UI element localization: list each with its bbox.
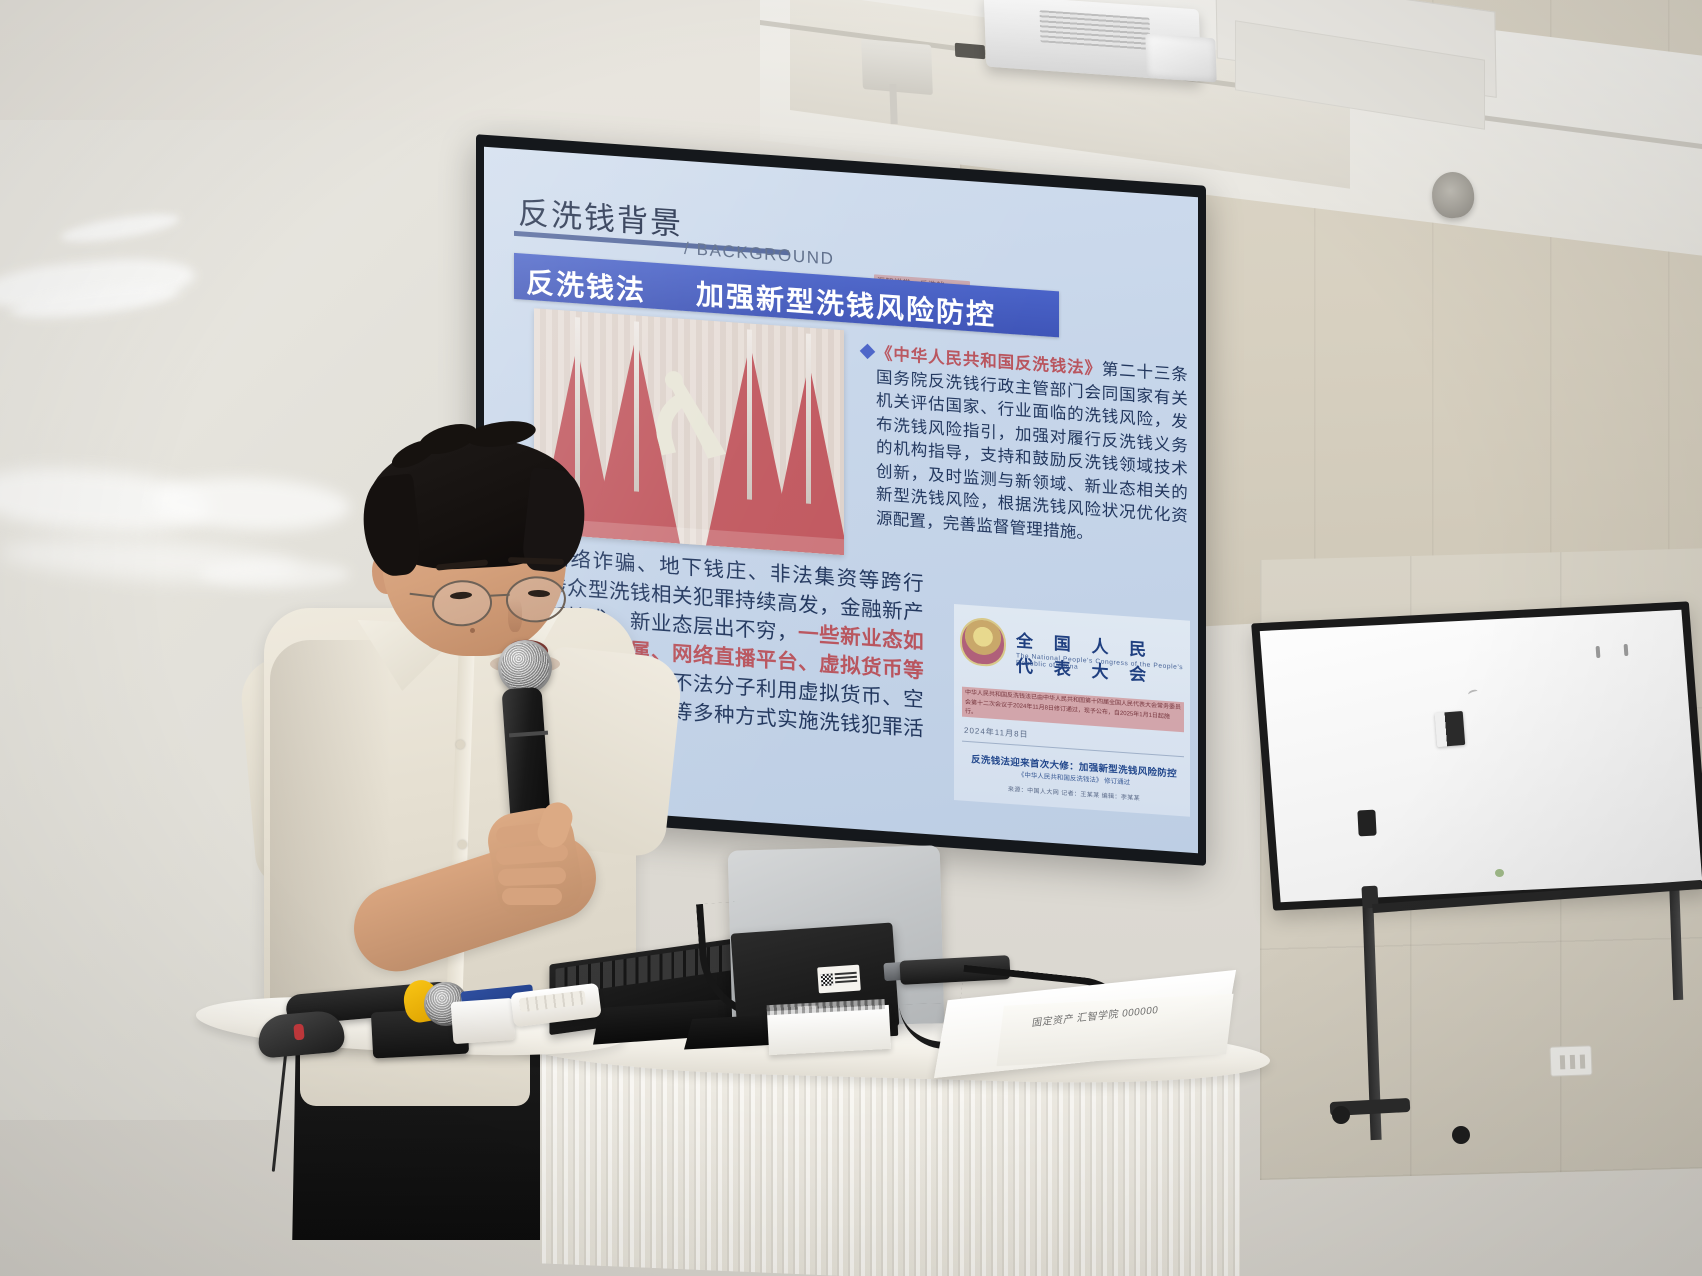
presenter-shirt-shadow — [270, 640, 390, 1040]
flag-pole-4 — [806, 334, 811, 504]
mouse-scroll-wheel-icon[interactable] — [293, 1024, 304, 1041]
slide-banner-left-text: 反洗钱法 — [526, 261, 646, 309]
whiteboard-hinge-upper — [1357, 810, 1376, 837]
whiteboard-surface[interactable] — [1260, 610, 1702, 903]
whiteboard-marker-cap-icon — [1495, 869, 1504, 877]
slide-law-paragraph: 《中华人民共和国反洗钱法》第二十三条 国务院反洗钱行政主管部门会同国家有关机关评… — [876, 342, 1188, 552]
asset-tag-label — [817, 965, 861, 994]
presenter-finger-3 — [498, 867, 567, 886]
lecture-room-photo: 反洗钱背景 / BACKGROUND 汇智讲堂 · 反洗钱 反洗钱法 加强新型洗… — [0, 0, 1702, 1276]
whiteboard-caster-1 — [1332, 1106, 1350, 1124]
eyeglass-lens-left — [431, 579, 493, 628]
presenter-mole — [470, 628, 475, 633]
slide-subtitle: / BACKGROUND — [684, 239, 835, 270]
ceiling-track-light-slot-2 — [955, 43, 985, 60]
projector-mount — [861, 39, 933, 95]
asset-tag-lines — [835, 972, 858, 986]
national-emblem-icon — [960, 616, 1006, 667]
presenter-finger-4 — [502, 888, 562, 905]
shirt-button-1 — [456, 740, 465, 749]
npc-news-card: 全 国 人 民 代 表 大 会 The National People's Co… — [954, 604, 1190, 817]
projector-lens-icon — [1145, 33, 1216, 82]
wall-power-outlet[interactable] — [1549, 1045, 1592, 1076]
paper-stack[interactable] — [767, 1005, 891, 1055]
bullet-diamond-icon-2 — [860, 344, 876, 360]
whiteboard-clip-2 — [1624, 644, 1629, 656]
whiteboard-caster-2 — [1452, 1126, 1470, 1144]
flag-pole-3 — [747, 329, 752, 499]
whiteboard-clip-1 — [1596, 646, 1601, 658]
eyeglasses-icon — [431, 574, 579, 628]
whiteboard-eraser-icon[interactable] — [1435, 711, 1466, 747]
qr-code-icon — [821, 973, 834, 986]
shirt-button-2 — [458, 840, 467, 849]
presenter-nose — [508, 598, 522, 632]
npc-date: 2024年11月8日 — [964, 725, 1029, 741]
projector-mount-rod — [889, 84, 897, 124]
presenter-hair-side-left — [359, 473, 423, 578]
presenter-remote[interactable] — [451, 998, 516, 1044]
slide-law-text: 第二十三条 国务院反洗钱行政主管部门会同国家有关机关评估国家、行业面临的洗钱风险… — [876, 360, 1188, 542]
